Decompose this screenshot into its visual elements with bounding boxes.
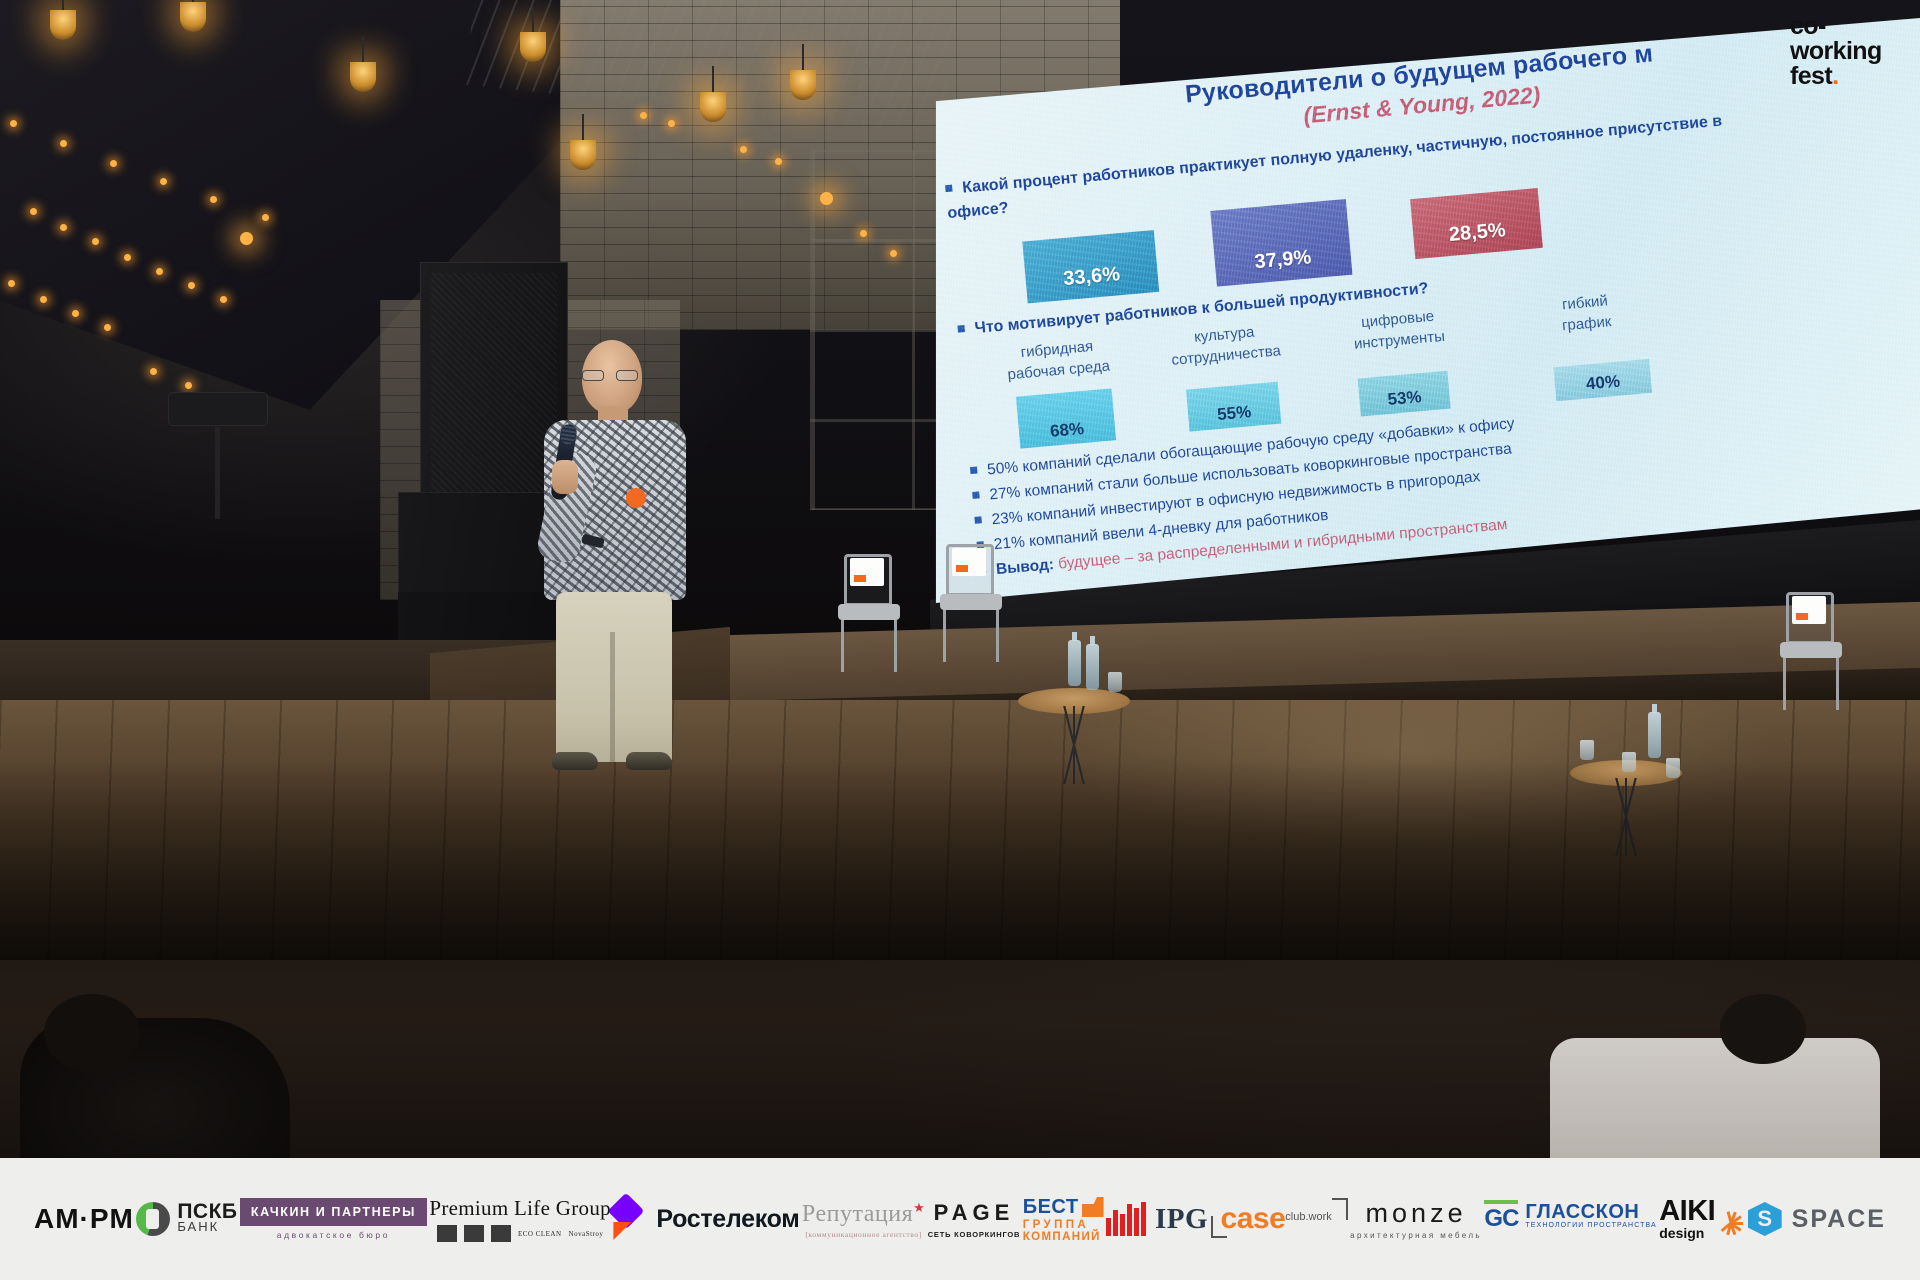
page-sub: СЕТЬ КОВОРКИНГОВ	[928, 1230, 1021, 1239]
sponsor-rostelecom[interactable]: Ростелеком	[613, 1198, 799, 1240]
ipg-name: IPG	[1155, 1203, 1208, 1236]
audience-chair-right	[1550, 1038, 1880, 1168]
projection-screen: Руководители о будущем рабочего м (Ernst…	[930, 18, 1920, 628]
stage-light	[168, 392, 268, 426]
sponsor-space[interactable]: SPACE	[1748, 1202, 1886, 1236]
speaker-person	[530, 340, 700, 770]
glasscon-mark-icon: GC	[1484, 1205, 1518, 1233]
sponsor-ipg[interactable]: IPG	[1106, 1202, 1208, 1236]
audience-silhouette-left	[20, 1018, 290, 1168]
plg-novastroy: NovaStroy	[569, 1230, 604, 1238]
reputation-sub: [коммуникационное агентство]	[802, 1230, 925, 1239]
foreground-shadow	[0, 760, 1920, 960]
monze-sub: архитектурная мебель	[1350, 1231, 1482, 1240]
sponsor-kachkin-partners[interactable]: КАЧКИН И ПАРТНЕРЫ адвокатское бюро	[240, 1198, 427, 1240]
screen-moire	[930, 18, 1920, 603]
drinking-glass	[1580, 740, 1594, 760]
case-sub: club.work	[1285, 1211, 1331, 1223]
kachkin-sub: адвокатское бюро	[240, 1230, 427, 1240]
star-icon: ★	[913, 1200, 925, 1215]
best-name: БЕСТ	[1023, 1196, 1079, 1219]
rostelecom-name: Ростелеком	[656, 1205, 799, 1234]
sponsor-best-group[interactable]: БЕСТ ГРУППА КОМПАНИЙ	[1023, 1196, 1104, 1243]
logo-line-1: co-	[1790, 14, 1898, 39]
speaker-trousers	[556, 592, 672, 762]
sponsor-premium-life-group[interactable]: Premium Life Group ECO CLEAN NovaStroy	[429, 1196, 611, 1242]
water-bottle	[1068, 640, 1081, 686]
logo-line-2: working	[1790, 39, 1898, 64]
glasscon-name: ГЛАССКОН	[1525, 1205, 1656, 1219]
plg-name: Premium Life Group	[429, 1196, 611, 1221]
best-sub1: ГРУППА	[1023, 1219, 1104, 1231]
bracket-left-icon	[1211, 1216, 1227, 1238]
ipg-buildings-icon	[1106, 1202, 1146, 1236]
case-name: case	[1221, 1202, 1286, 1236]
sponsor-monze[interactable]: monze архитектурная мебель	[1350, 1198, 1482, 1240]
best-sub2: КОМПАНИЙ	[1023, 1231, 1104, 1243]
logo-line-3: fest	[1790, 62, 1832, 90]
kachkin-name: КАЧКИН И ПАРТНЕРЫ	[240, 1198, 427, 1226]
water-bottle	[1086, 644, 1099, 690]
plg-mark-icon	[491, 1225, 511, 1242]
aiki-name: AIKI	[1659, 1197, 1715, 1225]
reputation-name: Репутация★	[802, 1200, 925, 1228]
drinking-glass	[1108, 672, 1122, 692]
pskb-name: ПСКБ	[177, 1204, 237, 1219]
logo-line-3-wrap: fest.	[1790, 64, 1898, 89]
sponsor-reputation[interactable]: Репутация★ [коммуникационное агентство]	[802, 1200, 925, 1239]
sponsor-page[interactable]: PAGE СЕТЬ КОВОРКИНГОВ	[928, 1200, 1021, 1239]
pskb-mark-icon	[136, 1202, 170, 1236]
monze-name: monze	[1350, 1198, 1482, 1229]
sponsor-bar: AM·PM ПСКБ БАНК КАЧКИН И ПАРТНЕРЫ адвока…	[0, 1158, 1920, 1280]
excavator-icon	[1082, 1197, 1104, 1217]
glasscon-sub: ТЕХНОЛОГИИ ПРОСТРАНСТВА	[1525, 1219, 1656, 1233]
space-name: SPACE	[1792, 1205, 1886, 1234]
sunburst-icon	[1719, 1207, 1745, 1241]
plg-eco-clean: ECO CLEAN	[518, 1230, 562, 1238]
sponsor-glasscon[interactable]: GC ГЛАССКОН ТЕХНОЛОГИИ ПРОСТРАНСТВА	[1484, 1205, 1656, 1233]
sponsor-case-clubwork[interactable]: case club.work	[1211, 1196, 1348, 1242]
sponsor-aiki-design[interactable]: AIKI design	[1659, 1197, 1745, 1241]
bracket-right-icon	[1332, 1198, 1348, 1220]
page-name: PAGE	[928, 1200, 1021, 1226]
eyeglasses-icon	[580, 370, 644, 381]
plg-mark-icon	[464, 1225, 484, 1242]
plg-mark-icon	[437, 1225, 457, 1242]
aiki-sub: design	[1659, 1225, 1715, 1241]
speaker-badge	[626, 488, 646, 508]
sponsor-pskb-bank[interactable]: ПСКБ БАНК	[136, 1202, 237, 1236]
logo-dot: .	[1832, 62, 1838, 90]
coworking-fest-logo: co- working fest.	[1790, 14, 1898, 89]
speaker-hand	[552, 460, 578, 494]
space-hex-icon	[1748, 1202, 1782, 1236]
water-bottle	[1648, 712, 1661, 758]
rostelecom-mark-icon	[613, 1198, 647, 1240]
conference-photo: Руководители о будущем рабочего м (Ernst…	[0, 0, 1920, 1280]
sponsor-am-pm[interactable]: AM·PM	[34, 1203, 134, 1235]
